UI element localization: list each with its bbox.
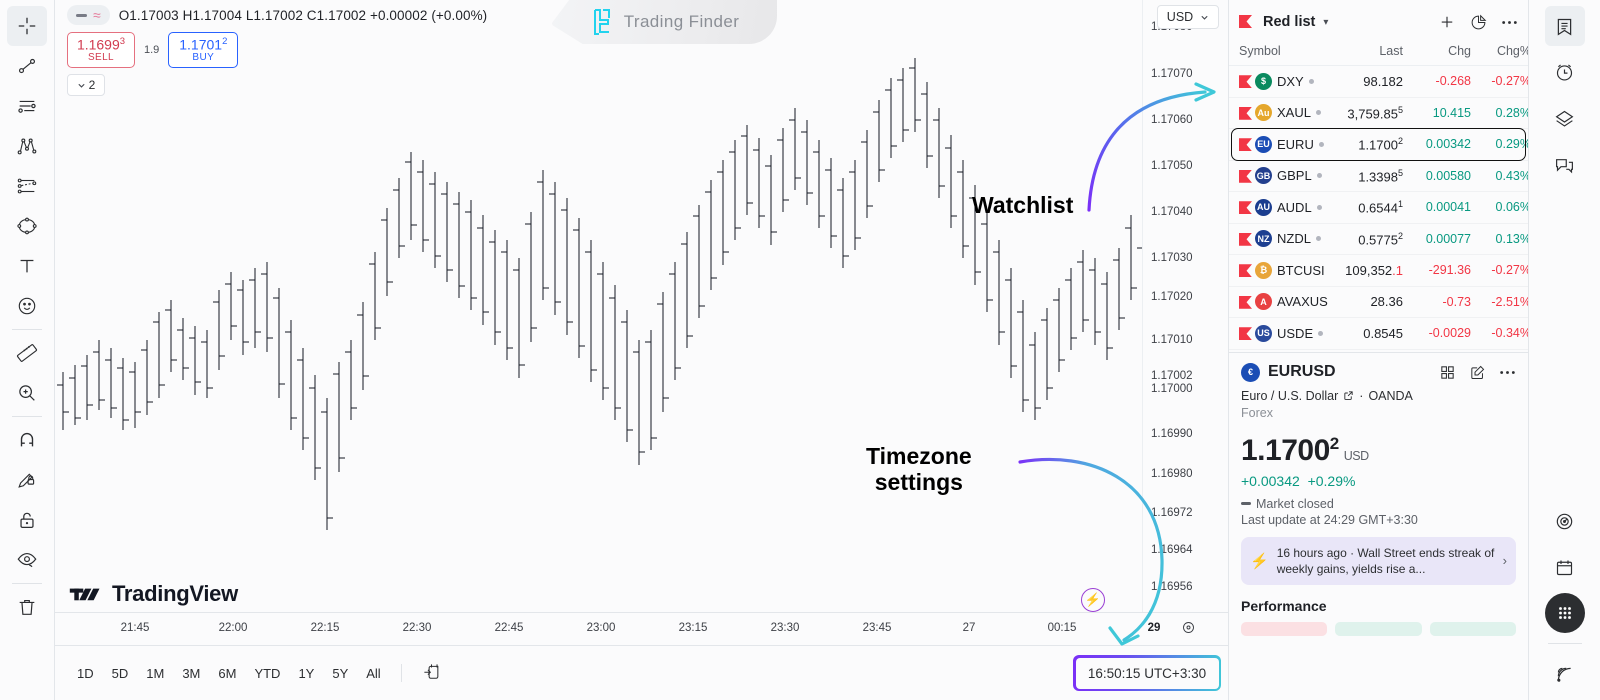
performance-bars bbox=[1229, 614, 1528, 636]
apps-grid-button[interactable] bbox=[1545, 593, 1585, 633]
watchlist-change: -0.0029 bbox=[1403, 326, 1471, 340]
text-tool[interactable] bbox=[7, 246, 47, 286]
market-closed-icon bbox=[1241, 502, 1251, 505]
watchlist-symbol-cell: NZNZDL bbox=[1239, 230, 1331, 247]
lightning-alert-icon[interactable]: ⚡ bbox=[1081, 588, 1105, 612]
annotation-timezone-line1: Timezone bbox=[866, 444, 972, 470]
symbol-logo-icon: $ bbox=[1255, 73, 1272, 90]
price-tick: 1.17040 bbox=[1151, 206, 1193, 218]
column-header-symbol[interactable]: Symbol bbox=[1239, 44, 1331, 58]
data-window-button[interactable] bbox=[1545, 98, 1585, 138]
watchlist-last-price: 0.8545 bbox=[1331, 326, 1403, 341]
ideas-stream-button[interactable] bbox=[1545, 501, 1585, 541]
candlestick-series bbox=[55, 0, 1228, 612]
details-separator: · bbox=[1359, 389, 1363, 403]
remove-drawings-tool[interactable] bbox=[7, 587, 47, 627]
timezone-selector[interactable]: 16:50:15 UTC+3:30 bbox=[1073, 655, 1221, 691]
watermark-text: TradingView bbox=[112, 581, 238, 607]
time-tick: 22:45 bbox=[495, 622, 524, 634]
watchlist-title: Red list bbox=[1263, 14, 1315, 30]
chat-panel-button[interactable] bbox=[1545, 144, 1585, 184]
annotation-timezone: Timezone settings bbox=[866, 444, 972, 496]
watchlist-symbol-cell: GBGBPL bbox=[1239, 167, 1331, 184]
symbol-logo-icon: US bbox=[1255, 325, 1272, 342]
red-flag-icon[interactable] bbox=[1239, 264, 1250, 276]
time-tick: 27 bbox=[963, 622, 976, 634]
watchlist-change-percent: 0.28% bbox=[1471, 106, 1528, 120]
right-sidebar bbox=[1528, 0, 1600, 700]
watchlist-last-price: 1.33985 bbox=[1331, 168, 1403, 184]
lock-drawings-tool[interactable] bbox=[7, 500, 47, 540]
red-flag-icon[interactable] bbox=[1239, 327, 1250, 339]
symbol-logo-icon: ₿ bbox=[1255, 262, 1272, 279]
watchlist-change-percent: 0.13% bbox=[1471, 232, 1528, 246]
details-symbol: EURUSD bbox=[1268, 363, 1336, 381]
time-tick: 22:30 bbox=[403, 622, 432, 634]
symbol-logo-icon: EU bbox=[1255, 136, 1272, 153]
time-tick: 22:15 bbox=[311, 622, 340, 634]
watchlist-change-percent: 0.29% bbox=[1471, 137, 1528, 151]
watchlist-change-percent: 0.43% bbox=[1471, 169, 1528, 183]
market-status-dot bbox=[1318, 331, 1323, 336]
watchlist-row[interactable]: AuXAUL3,759.85510.4150.28% bbox=[1229, 98, 1528, 130]
range-button-6m[interactable]: 6M bbox=[210, 662, 244, 685]
news-item[interactable]: ⚡ 16 hours ago · Wall Street ends streak… bbox=[1241, 537, 1516, 585]
trading-finder-name: Trading Finder bbox=[624, 12, 740, 32]
edit-note-button[interactable] bbox=[1469, 364, 1486, 381]
zoom-in-tool[interactable] bbox=[7, 373, 47, 413]
time-axis[interactable]: 21:4522:0022:1522:3022:4523:0023:1523:30… bbox=[55, 612, 1228, 645]
watchlist-row[interactable]: USUSDE0.8545-0.0029-0.34% bbox=[1229, 318, 1528, 350]
tradingview-logo-icon bbox=[69, 585, 103, 603]
watchlist-symbol-cell: EUEURU bbox=[1239, 136, 1331, 153]
watchlist-last-price: 1.17002 bbox=[1331, 136, 1403, 152]
trading-finder-badge: Trading Finder bbox=[551, 0, 777, 44]
watchlist-last-price: 3,759.855 bbox=[1331, 105, 1403, 121]
range-button-1y[interactable]: 1Y bbox=[290, 662, 322, 685]
range-button-1m[interactable]: 1M bbox=[138, 662, 172, 685]
watchlist-change: -0.268 bbox=[1403, 74, 1471, 88]
column-header-last[interactable]: Last bbox=[1331, 44, 1403, 58]
chevron-right-icon: › bbox=[1503, 553, 1507, 568]
tradingview-watermark: TradingView bbox=[69, 581, 238, 607]
price-tick: 1.17002 bbox=[1151, 370, 1193, 382]
symbol-logo-icon: Au bbox=[1255, 104, 1272, 121]
symbol-name: USDE bbox=[1277, 326, 1313, 341]
toolbar-divider bbox=[12, 329, 42, 330]
chevron-down-icon[interactable]: ▾ bbox=[1323, 17, 1328, 28]
watchlist-menu-button[interactable] bbox=[1501, 20, 1518, 25]
horizontal-lines-tool[interactable] bbox=[7, 86, 47, 126]
broadcast-button[interactable] bbox=[1545, 654, 1585, 694]
symbol-logo-icon: NZ bbox=[1255, 230, 1272, 247]
red-flag-icon[interactable] bbox=[1239, 75, 1250, 87]
currency-selector[interactable]: USD bbox=[1157, 5, 1219, 29]
symbol-name: NZDL bbox=[1277, 231, 1311, 246]
stay-in-drawing-mode-tool[interactable] bbox=[7, 460, 47, 500]
red-flag-icon bbox=[1239, 15, 1255, 29]
bottom-toolbar: 1D5D1M3M6MYTD1Y5YAll 16:50:15 UTC+3:30 bbox=[55, 645, 1228, 700]
watchlist-panel: Red list ▾ SymbolLastChgChg% $DXY98.182-… bbox=[1228, 0, 1528, 700]
watchlist-change: 10.415 bbox=[1403, 106, 1471, 120]
price-tick: 1.17050 bbox=[1151, 160, 1193, 172]
details-price: 1.17002USD bbox=[1241, 434, 1516, 468]
watchlist-row[interactable]: GBGBPL1.339850.005800.43% bbox=[1229, 161, 1528, 193]
column-header-chg[interactable]: Chg bbox=[1403, 44, 1471, 58]
goto-date-button[interactable] bbox=[414, 658, 449, 688]
symbol-name: GBPL bbox=[1277, 168, 1312, 183]
watchlist-change: -0.73 bbox=[1403, 295, 1471, 309]
time-tick: 22:00 bbox=[219, 622, 248, 634]
price-tick: 1.17070 bbox=[1151, 68, 1193, 80]
range-button-ytd[interactable]: YTD bbox=[246, 662, 288, 685]
external-link-icon[interactable] bbox=[1343, 390, 1354, 401]
market-status-dot bbox=[1316, 236, 1321, 241]
time-tick: 29 bbox=[1148, 622, 1161, 634]
watchlist-last-price: 109,352.1 bbox=[1331, 263, 1403, 278]
range-button-all[interactable]: All bbox=[358, 662, 388, 685]
price-tick: 1.17020 bbox=[1151, 291, 1193, 303]
chevron-down-icon bbox=[1200, 13, 1209, 22]
symbol-name: DXY bbox=[1277, 74, 1304, 89]
watchlist-symbol-cell: USUSDE bbox=[1239, 325, 1331, 342]
chart-canvas[interactable]: ≈ O1.17003 H1.17004 L1.17002 C1.17002 +0… bbox=[55, 0, 1228, 645]
watchlist-change-percent: -0.27% bbox=[1471, 74, 1528, 88]
watchlist-change: -291.36 bbox=[1403, 263, 1471, 277]
watchlist-symbol-cell: AuXAUL bbox=[1239, 104, 1331, 121]
symbol-logo-icon: A bbox=[1255, 293, 1272, 310]
column-header-chgpct[interactable]: Chg% bbox=[1471, 44, 1528, 58]
lightning-icon: ⚡ bbox=[1250, 552, 1269, 570]
market-status-dot bbox=[1316, 110, 1321, 115]
watchlist-last-price: 0.57752 bbox=[1331, 231, 1403, 247]
performance-cell bbox=[1241, 622, 1327, 636]
price-tick: 1.16990 bbox=[1151, 428, 1193, 440]
watchlist-header: Red list ▾ bbox=[1229, 0, 1528, 44]
symbol-name: AUDL bbox=[1277, 200, 1312, 215]
details-menu-button[interactable] bbox=[1499, 370, 1516, 375]
symbol-name: AVAXUS bbox=[1277, 294, 1328, 309]
watchlist-symbol-cell: AAVAXUS bbox=[1239, 293, 1331, 310]
watchlist-change-percent: 0.06% bbox=[1471, 200, 1528, 214]
watchlist-panel-button[interactable] bbox=[1545, 6, 1585, 46]
eurusd-flag-icon: € bbox=[1241, 363, 1260, 382]
range-button-3m[interactable]: 3M bbox=[174, 662, 208, 685]
news-text: 16 hours ago · Wall Street ends streak o… bbox=[1277, 545, 1495, 577]
market-status-dot bbox=[1319, 142, 1324, 147]
watchlist-symbol-cell: $DXY bbox=[1239, 73, 1331, 90]
hide-drawings-tool[interactable] bbox=[7, 540, 47, 580]
price-tick: 1.17000 bbox=[1151, 383, 1193, 395]
red-flag-icon[interactable] bbox=[1239, 296, 1250, 308]
watchlist-last-price: 98.182 bbox=[1331, 74, 1403, 89]
performance-cell bbox=[1430, 622, 1516, 636]
watchlist-change-percent: -0.27% bbox=[1471, 263, 1528, 277]
watchlist-row[interactable]: NZNZDL0.577520.000770.13% bbox=[1229, 224, 1528, 256]
forecast-projection-tool[interactable] bbox=[7, 166, 47, 206]
red-flag-icon[interactable] bbox=[1239, 170, 1250, 182]
currency-value: USD bbox=[1167, 10, 1193, 24]
price-axis[interactable]: 1.170801.170701.170601.170501.170401.170… bbox=[1142, 0, 1228, 645]
watchlist-last-price: 0.65441 bbox=[1331, 199, 1403, 215]
time-tick: 23:00 bbox=[587, 622, 616, 634]
time-tick: 23:15 bbox=[679, 622, 708, 634]
shapes-ellipse-tool[interactable] bbox=[7, 206, 47, 246]
range-button-1d[interactable]: 1D bbox=[69, 662, 102, 685]
red-flag-icon[interactable] bbox=[1239, 201, 1250, 213]
add-symbol-button[interactable] bbox=[1438, 13, 1456, 31]
symbol-name: XAUL bbox=[1277, 105, 1311, 120]
tradingview-app: ≈ O1.17003 H1.17004 L1.17002 C1.17002 +0… bbox=[0, 0, 1600, 700]
watchlist-column-headers: SymbolLastChgChg% bbox=[1229, 44, 1528, 66]
alerts-panel-button[interactable] bbox=[1545, 52, 1585, 92]
timezone-value: 16:50:15 UTC+3:30 bbox=[1076, 658, 1219, 689]
price-tick: 1.16980 bbox=[1151, 468, 1193, 480]
time-tick: 00:15 bbox=[1048, 622, 1077, 634]
watchlist-change-percent: -2.51% bbox=[1471, 295, 1528, 309]
market-status-dot bbox=[1317, 173, 1322, 178]
details-asset-class: Forex bbox=[1241, 406, 1516, 420]
details-change: +0.00342 +0.29% bbox=[1241, 473, 1516, 489]
symbol-details: € EURUSD Euro / U.S. Dollar · bbox=[1229, 352, 1528, 585]
toolbar-divider-2 bbox=[12, 416, 42, 417]
red-flag-icon[interactable] bbox=[1239, 107, 1250, 119]
watchlist-symbol-cell: ₿BTCUSI bbox=[1239, 262, 1331, 279]
watchlist-change: 0.00342 bbox=[1403, 137, 1471, 151]
price-tick: 1.16972 bbox=[1151, 507, 1193, 519]
details-market-status: Market closed bbox=[1241, 497, 1516, 511]
price-tick: 1.17010 bbox=[1151, 334, 1193, 346]
symbol-logo-icon: GB bbox=[1255, 167, 1272, 184]
annotation-watchlist: Watchlist bbox=[972, 192, 1073, 219]
watchlist-symbol-cell: AUAUDL bbox=[1239, 199, 1331, 216]
trend-line-tool[interactable] bbox=[7, 46, 47, 86]
watchlist-row[interactable]: AUAUDL0.654410.000410.06% bbox=[1229, 192, 1528, 224]
symbol-name: BTCUSI bbox=[1277, 263, 1325, 278]
symbol-logo-icon: AU bbox=[1255, 199, 1272, 216]
watchlist-change: 0.00041 bbox=[1403, 200, 1471, 214]
details-description-row: Euro / U.S. Dollar · OANDA bbox=[1241, 389, 1516, 403]
price-tick: 1.16964 bbox=[1151, 544, 1193, 556]
performance-title: Performance bbox=[1229, 598, 1528, 614]
price-tick: 1.16956 bbox=[1151, 581, 1193, 593]
watchlist-change: 0.00580 bbox=[1403, 169, 1471, 183]
price-tick: 1.17060 bbox=[1151, 114, 1193, 126]
details-header: € EURUSD bbox=[1241, 363, 1516, 382]
toolbar-divider-3 bbox=[12, 583, 42, 584]
watchlist-row[interactable]: ₿BTCUSI109,352.1-291.36-0.27% bbox=[1229, 255, 1528, 287]
time-tick: 21:45 bbox=[121, 622, 150, 634]
annotation-timezone-line2: settings bbox=[866, 470, 972, 496]
toolbar-divider bbox=[401, 664, 402, 682]
details-last-update: Last update at 24:29 GMT+3:30 bbox=[1241, 513, 1516, 527]
time-tick: 23:30 bbox=[771, 622, 800, 634]
red-flag-icon[interactable] bbox=[1239, 233, 1250, 245]
watchlist-rows: $DXY98.182-0.268-0.27%AuXAUL3,759.85510.… bbox=[1229, 66, 1528, 350]
watchlist-row[interactable]: AAVAXUS28.36-0.73-2.51% bbox=[1229, 287, 1528, 319]
watchlist-row[interactable]: $DXY98.182-0.268-0.27% bbox=[1229, 66, 1528, 98]
emoji-sticker-tool[interactable] bbox=[7, 286, 47, 326]
symbol-name: EURU bbox=[1277, 137, 1314, 152]
watchlist-change-percent: -0.34% bbox=[1471, 326, 1528, 340]
measure-ruler-tool[interactable] bbox=[7, 333, 47, 373]
market-status-dot bbox=[1317, 205, 1322, 210]
magnet-mode-tool[interactable] bbox=[7, 420, 47, 460]
cross-cursor-tool[interactable] bbox=[7, 6, 47, 46]
details-exchange: OANDA bbox=[1368, 389, 1412, 403]
grid-layout-button[interactable] bbox=[1439, 364, 1456, 381]
performance-cell bbox=[1335, 622, 1421, 636]
watchlist-change: 0.00077 bbox=[1403, 232, 1471, 246]
watchlist-last-price: 28.36 bbox=[1331, 294, 1403, 309]
trading-finder-logo-icon bbox=[589, 7, 615, 37]
time-tick: 23:45 bbox=[863, 622, 892, 634]
elliott-wave-tool[interactable] bbox=[7, 126, 47, 166]
watchlist-row[interactable]: EUEURU1.170020.003420.29% bbox=[1229, 129, 1528, 161]
sidebar-divider bbox=[1548, 643, 1582, 644]
drawing-toolbar bbox=[0, 0, 55, 700]
market-status-dot bbox=[1309, 79, 1314, 84]
price-tick: 1.17030 bbox=[1151, 252, 1193, 264]
range-button-5d[interactable]: 5D bbox=[104, 662, 137, 685]
details-description: Euro / U.S. Dollar bbox=[1241, 389, 1338, 403]
pie-chart-view-button[interactable] bbox=[1470, 14, 1487, 31]
calendar-goto-icon bbox=[422, 662, 441, 681]
range-button-5y[interactable]: 5Y bbox=[324, 662, 356, 685]
calendar-button[interactable] bbox=[1545, 547, 1585, 587]
red-flag-icon[interactable] bbox=[1239, 138, 1250, 150]
